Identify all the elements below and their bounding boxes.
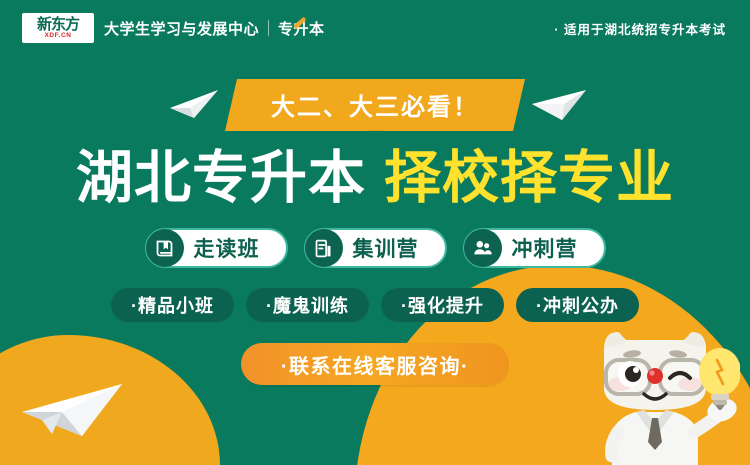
- logo-chinese-name: 新东方: [37, 17, 79, 32]
- book-icon: [146, 229, 184, 267]
- xdf-logo: 新东方 XDF.CN: [22, 13, 94, 43]
- highlight-tagbar-wrap: 大二、大三必看！: [0, 79, 750, 131]
- highlight-tagbar: 大二、大三必看！: [225, 79, 525, 131]
- feature-tag[interactable]: ·精品小班: [111, 288, 234, 322]
- promo-banner: 新东方 XDF.CN 大学生学习与发展中心 专升本 · 适用于湖北统招专升本考试…: [0, 0, 750, 465]
- header-divider: [268, 20, 269, 36]
- paper-plane-bottom-icon: [18, 368, 128, 440]
- headline: 湖北专升本 择校择专业: [0, 132, 750, 214]
- header-brand: 专升本: [278, 18, 325, 39]
- course-pill-label: 冲刺营: [512, 233, 578, 263]
- course-pill-zoudu[interactable]: 走读班: [145, 228, 288, 268]
- highlight-tagbar-text: 大二、大三必看！: [271, 87, 479, 122]
- people-icon: [464, 229, 502, 267]
- feature-tag-label: ·魔鬼训练: [266, 292, 349, 318]
- feature-tag-label: ·强化提升: [401, 292, 484, 318]
- header-title: 大学生学习与发展中心: [104, 18, 259, 39]
- scientist-cat-mascot: [570, 310, 740, 465]
- headline-primary: 湖北专升本: [76, 132, 366, 214]
- course-pill-row: 走读班 集训营 冲刺营: [0, 228, 750, 268]
- logo-domain: XDF.CN: [44, 33, 71, 40]
- banner-header: 新东方 XDF.CN 大学生学习与发展中心 专升本 · 适用于湖北统招专升本考试: [0, 0, 750, 56]
- header-right-note: · 适用于湖北统招专升本考试: [554, 19, 726, 38]
- course-pill-label: 走读班: [194, 233, 260, 263]
- contact-support-button[interactable]: ·联系在线客服咨询·: [241, 343, 509, 385]
- feature-tag-label: ·精品小班: [131, 292, 214, 318]
- headline-secondary: 择校择专业: [384, 132, 674, 214]
- course-pill-jixunying[interactable]: 集训营: [304, 228, 447, 268]
- feature-tag[interactable]: ·魔鬼训练: [246, 288, 369, 322]
- course-pill-label: 集训营: [353, 233, 419, 263]
- course-pill-chongciying[interactable]: 冲刺营: [463, 228, 606, 268]
- chart-document-icon: [305, 229, 343, 267]
- contact-support-label: ·联系在线客服咨询·: [281, 350, 469, 379]
- feature-tag[interactable]: ·强化提升: [381, 288, 504, 322]
